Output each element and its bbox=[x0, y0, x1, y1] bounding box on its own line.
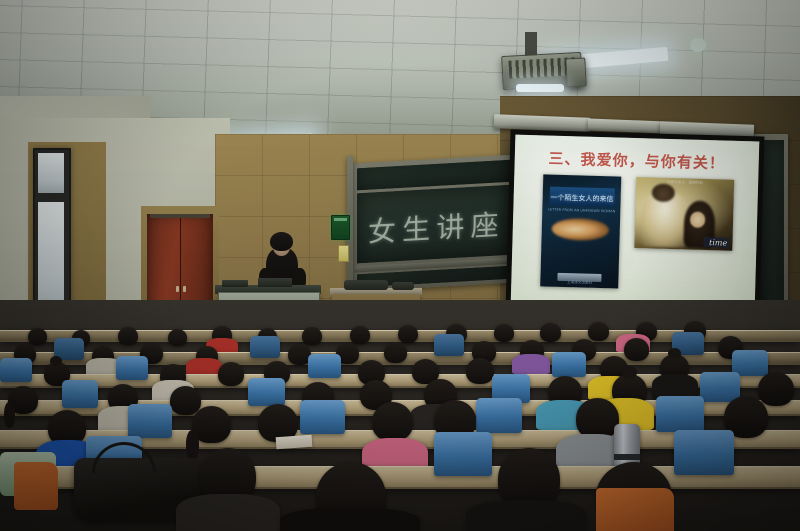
book-cover-title: 一个陌生女人的来信 bbox=[543, 192, 621, 204]
projector-lamp-glow bbox=[516, 84, 564, 92]
thermos-strap bbox=[614, 454, 640, 460]
audience-head bbox=[350, 326, 370, 344]
book-cover-subtitle: LETTER FROM AN UNKNOWN WOMAN bbox=[543, 207, 621, 213]
auditorium-chair[interactable] bbox=[552, 352, 586, 377]
book-cover-artwork bbox=[551, 217, 609, 241]
hair-bun bbox=[622, 366, 637, 379]
auditorium-chair[interactable] bbox=[250, 336, 280, 358]
audience-head bbox=[576, 398, 619, 439]
audience-head bbox=[302, 327, 322, 345]
lecture-hall-photo: 女生讲座 三、我爱你，与你有关！ 一个陌生女人的来信 LETTER FROM A… bbox=[0, 0, 800, 531]
auditorium-chair[interactable] bbox=[434, 432, 492, 476]
audience-head bbox=[540, 323, 561, 342]
audience-torso bbox=[466, 500, 586, 531]
auditorium-chair[interactable] bbox=[308, 354, 341, 378]
audience-head bbox=[624, 338, 649, 361]
book-cover-publisher: 上海译文出版社 bbox=[541, 279, 619, 286]
orange-tote-bag[interactable] bbox=[14, 462, 58, 510]
chalkboard-text: 女生讲座 bbox=[368, 203, 505, 251]
slide-image-book-cover: 一个陌生女人的来信 LETTER FROM AN UNKNOWN WOMAN 上… bbox=[540, 175, 621, 289]
ponytail bbox=[186, 430, 199, 460]
audience-torso bbox=[512, 354, 550, 374]
open-notebook[interactable] bbox=[276, 435, 313, 449]
audience-head bbox=[466, 358, 494, 384]
photo-caption: 父亲与女儿 · 温情时刻 bbox=[636, 179, 734, 187]
photo-watermark: time bbox=[709, 238, 727, 248]
auditorium-chair[interactable] bbox=[434, 334, 464, 356]
chalkboard-main-panel: 女生讲座 bbox=[357, 185, 512, 264]
door-closer-bar bbox=[150, 214, 210, 218]
slide-title: 三、我爱你，与你有关！ bbox=[515, 147, 759, 175]
audience-head bbox=[28, 328, 47, 345]
audience-head bbox=[588, 322, 609, 341]
auditorium-chair[interactable] bbox=[62, 380, 98, 408]
presenter-head bbox=[270, 232, 293, 251]
audience-head bbox=[494, 324, 514, 342]
auditorium-chair[interactable] bbox=[116, 356, 148, 380]
audience-torso bbox=[176, 494, 280, 531]
projection-screen-border: 三、我爱你，与你有关！ 一个陌生女人的来信 LETTER FROM AN UNK… bbox=[506, 129, 765, 316]
auditorium-chair[interactable] bbox=[128, 404, 172, 438]
audience-head bbox=[758, 372, 794, 406]
wall-notice bbox=[338, 245, 349, 262]
hair-bun bbox=[50, 356, 62, 366]
ceiling-smoke-detector bbox=[690, 38, 706, 52]
slide-image-family-photo: 父亲与女儿 · 温情时刻 time bbox=[634, 177, 734, 251]
auditorium-chair[interactable] bbox=[0, 358, 32, 382]
door-handle[interactable] bbox=[176, 286, 179, 292]
audience-torso bbox=[280, 508, 420, 531]
auditorium-chair[interactable] bbox=[674, 430, 734, 475]
podium-monitor bbox=[222, 280, 248, 287]
emergency-exit-sign bbox=[331, 215, 350, 240]
side-table-equipment bbox=[344, 280, 388, 290]
audience-head bbox=[384, 342, 407, 363]
ponytail bbox=[4, 402, 15, 428]
audience-head bbox=[218, 362, 244, 386]
auditorium-chair[interactable] bbox=[300, 400, 345, 434]
photo-child-face bbox=[690, 211, 706, 227]
door-handle[interactable] bbox=[183, 286, 186, 292]
auditorium-chair[interactable] bbox=[476, 398, 522, 433]
audience-head bbox=[170, 386, 201, 415]
audience-head bbox=[372, 402, 413, 441]
auditorium-chair[interactable] bbox=[656, 396, 704, 432]
projector-lens-housing bbox=[565, 57, 586, 87]
hair-bun bbox=[668, 348, 681, 359]
audience-head bbox=[168, 329, 187, 346]
audience-head bbox=[118, 327, 138, 345]
podium-equipment bbox=[258, 278, 292, 287]
auditorium-chair[interactable] bbox=[700, 372, 740, 402]
orange-tote-bag[interactable] bbox=[596, 488, 674, 531]
projection-screen[interactable]: 三、我爱你，与你有关！ 一个陌生女人的来信 LETTER FROM AN UNK… bbox=[511, 135, 760, 312]
auditorium-chair[interactable] bbox=[248, 378, 285, 406]
side-table-equipment bbox=[392, 282, 414, 290]
audience-head bbox=[398, 325, 418, 343]
window-pane-upper bbox=[38, 153, 64, 193]
